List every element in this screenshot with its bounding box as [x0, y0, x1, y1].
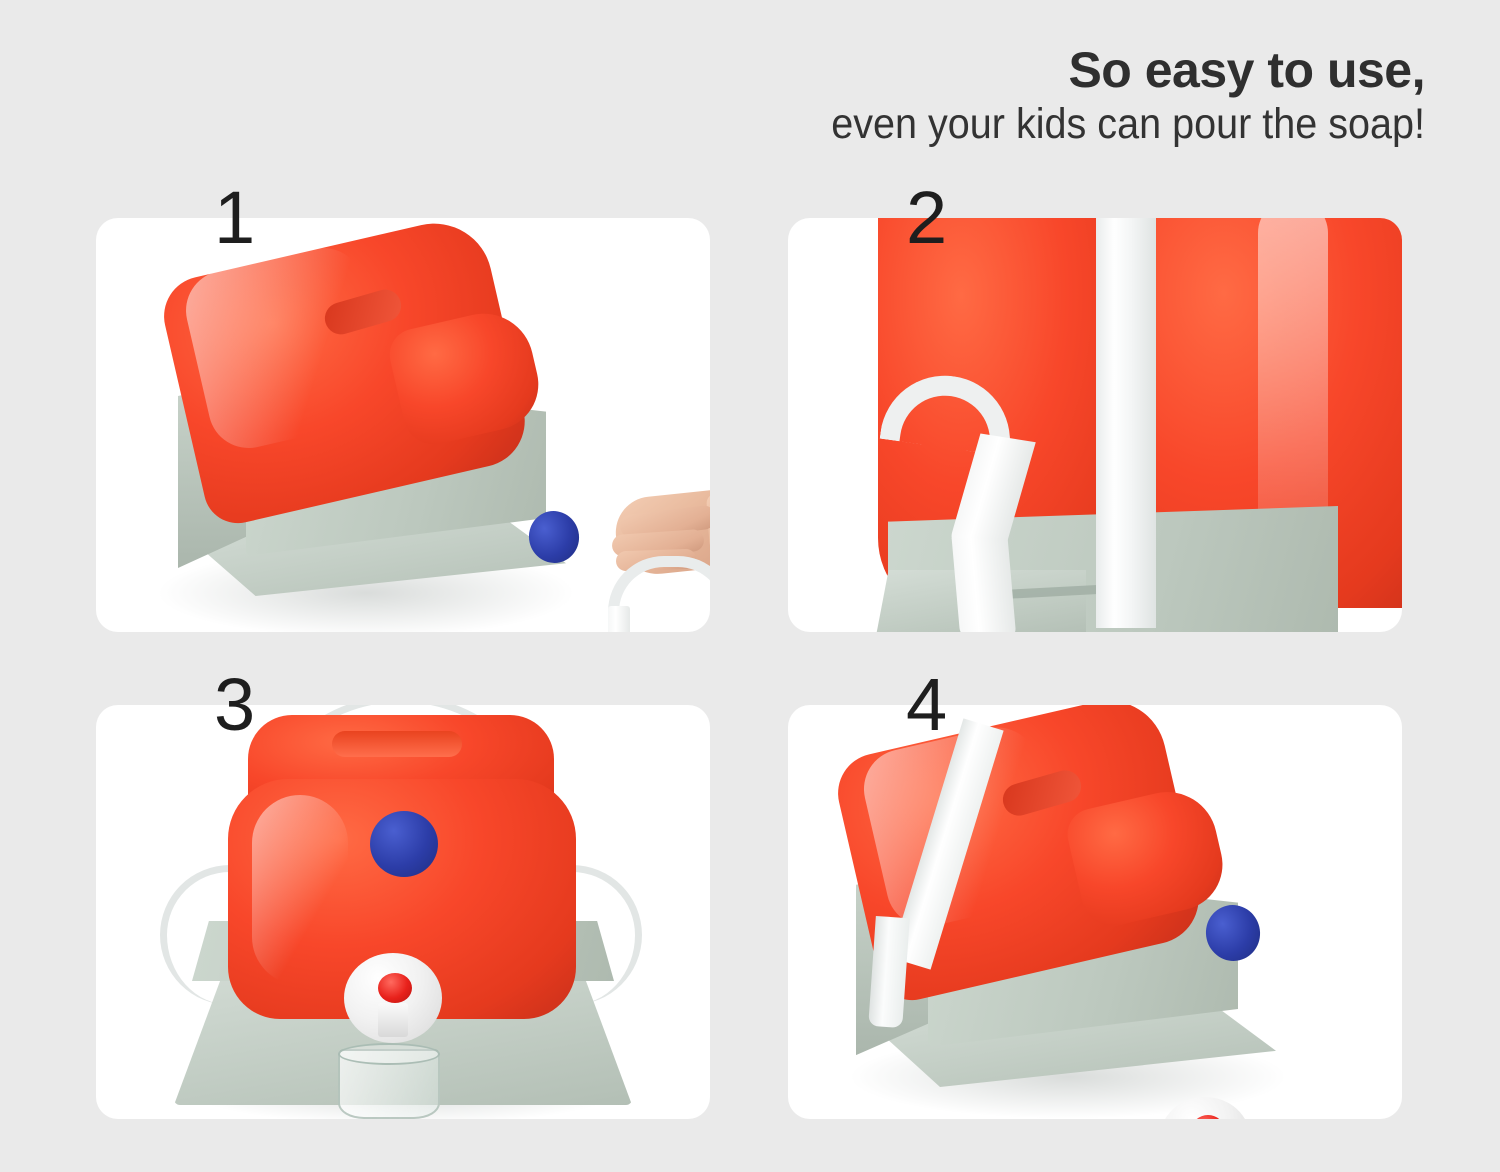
step-2-illustration [788, 218, 1402, 632]
step-3-illustration [96, 705, 710, 1119]
blue-cap-front [370, 811, 438, 877]
step-1-illustration [96, 218, 710, 632]
step-number-3: 3 [214, 668, 255, 742]
strap-loop-tail [952, 538, 1017, 632]
page-subtitle: even your kids can pour the soap! [671, 101, 1425, 148]
strap-left-tail [608, 606, 630, 632]
step-card-1 [96, 218, 710, 632]
spigot-button-front [378, 973, 412, 1003]
header-block: So easy to use, even your kids can pour … [605, 44, 1425, 148]
cup-rim-front [338, 1043, 440, 1065]
step-card-3 [96, 705, 710, 1119]
spigot-lever-front [378, 1003, 408, 1037]
step-number-2: 2 [906, 181, 947, 255]
step-card-4 [788, 705, 1402, 1119]
jug-front-handle [332, 731, 462, 757]
strap-vertical [1096, 218, 1156, 628]
step-number-4: 4 [906, 668, 947, 742]
step-4-illustration [788, 705, 1402, 1119]
step-card-2 [788, 218, 1402, 632]
step-number-1: 1 [214, 181, 255, 255]
steps-grid: 1 2 3 4 [96, 218, 1400, 1120]
page-title: So easy to use, [605, 44, 1425, 97]
